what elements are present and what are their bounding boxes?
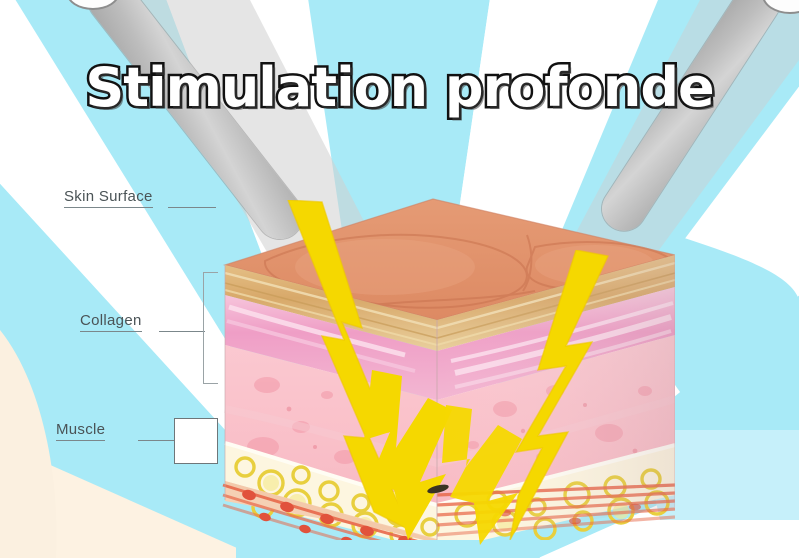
wand-right[interactable]	[520, 0, 799, 260]
wand-right-body	[594, 0, 789, 239]
leader-muscle	[138, 440, 174, 441]
energy-bolt-deep-right	[436, 405, 556, 545]
bolt-artifact-speck	[420, 478, 460, 500]
leader-collagen	[159, 331, 205, 332]
label-collagen: Collagen	[80, 312, 142, 332]
label-muscle: Muscle	[56, 421, 105, 441]
page-title: Stimulation profonde	[0, 56, 799, 119]
image-canvas: Stimulation profonde Skin Surface Collag…	[0, 0, 799, 558]
box-connector-muscle	[174, 418, 218, 464]
bracket-collagen	[203, 272, 218, 384]
